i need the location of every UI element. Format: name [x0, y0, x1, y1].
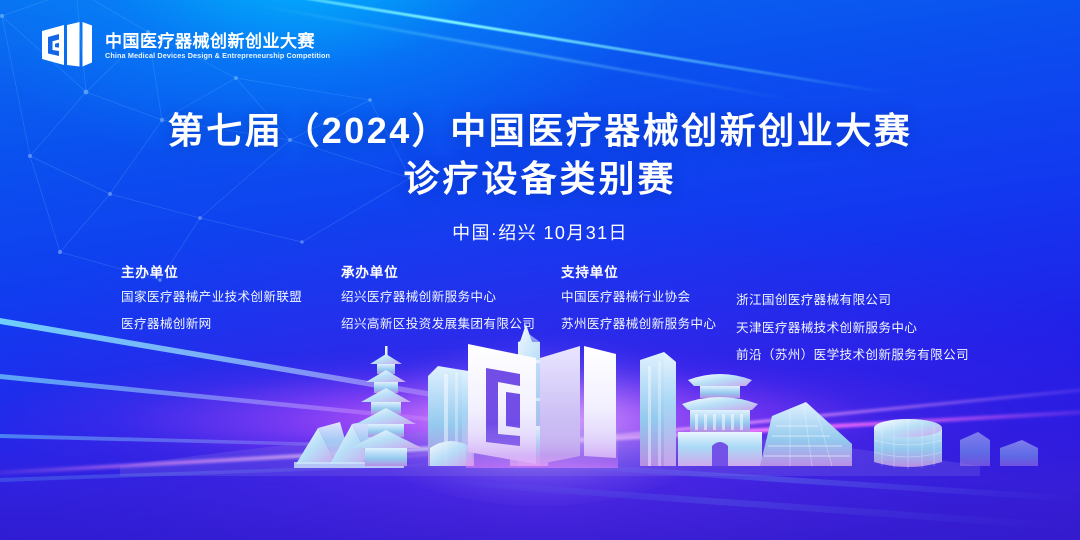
skyscraper-twin-icon: [428, 366, 474, 466]
open-book-window-logo-icon: [40, 21, 94, 69]
host-column: 主办单位 国家医疗器械产业技术创新联盟 医疗器械创新网: [121, 266, 302, 331]
organizer-item: 绍兴医疗器械创新服务中心: [341, 291, 535, 304]
support-item: 中国医疗器械行业协会: [561, 291, 716, 304]
support-heading: 支持单位: [561, 266, 716, 280]
logo-monument-icon: [466, 344, 618, 468]
dome-arena-icon: [874, 419, 942, 469]
hero-title: 第七届（2024）中国医疗器械创新创业大赛 诊疗设备类别赛: [0, 108, 1080, 203]
support-item: 苏州医疗器械创新服务中心: [561, 318, 716, 331]
hero-subtitle: 中国·绍兴 10月31日: [0, 219, 1080, 245]
support-column: 支持单位 中国医疗器械行业协会 苏州医疗器械创新服务中心: [561, 266, 716, 331]
support-item: 浙江国创医疗器械有限公司: [736, 294, 969, 307]
support-column-secondary: 浙江国创医疗器械有限公司 天津医疗器械技术创新服务中心 前沿（苏州）医学技术创新…: [736, 294, 969, 362]
brand-logo[interactable]: 中国医疗器械创新创业大赛 China Medical Devices Desig…: [40, 21, 335, 69]
title-line-2: 诊疗设备类别赛: [0, 156, 1080, 203]
skyscraper-right-icon: [640, 352, 676, 466]
host-heading: 主办单位: [121, 266, 302, 280]
organizers-section: 主办单位 国家医疗器械产业技术创新联盟 医疗器械创新网 承办单位 绍兴医疗器械创…: [0, 266, 1080, 361]
pagoda-tower-icon: [350, 346, 422, 466]
host-item: 国家医疗器械产业技术创新联盟: [121, 291, 302, 304]
organizer-heading: 承办单位: [341, 266, 535, 280]
brand-text: 中国医疗器械创新创业大赛 China Medical Devices Desig…: [105, 30, 335, 61]
host-item: 医疗器械创新网: [121, 318, 302, 331]
organizer-item: 绍兴高新区投资发展集团有限公司: [341, 318, 535, 331]
support-item: 前沿（苏州）医学技术创新服务有限公司: [736, 349, 969, 362]
magenta-streak-secondary-icon: [262, 381, 1080, 472]
organizer-column: 承办单位 绍兴医疗器械创新服务中心 绍兴高新区投资发展集团有限公司: [341, 266, 535, 331]
brand-name-cn: 中国医疗器械创新创业大赛: [105, 33, 335, 51]
opera-house-icon: [294, 420, 404, 468]
support-item: 天津医疗器械技术创新服务中心: [736, 322, 969, 335]
brand-name-en: China Medical Devices Design & Entrepren…: [105, 52, 330, 60]
ground-sheen: [0, 430, 1080, 540]
title-line-1: 第七届（2024）中国医疗器械创新创业大赛: [0, 108, 1080, 154]
stepped-pyramid-icon: [760, 402, 852, 466]
gate-tower-icon: [678, 374, 762, 466]
event-banner: 中国医疗器械创新创业大赛 China Medical Devices Desig…: [0, 0, 1080, 540]
magenta-streak-icon: [0, 407, 1080, 477]
far-buildings-icon: [960, 432, 1038, 466]
